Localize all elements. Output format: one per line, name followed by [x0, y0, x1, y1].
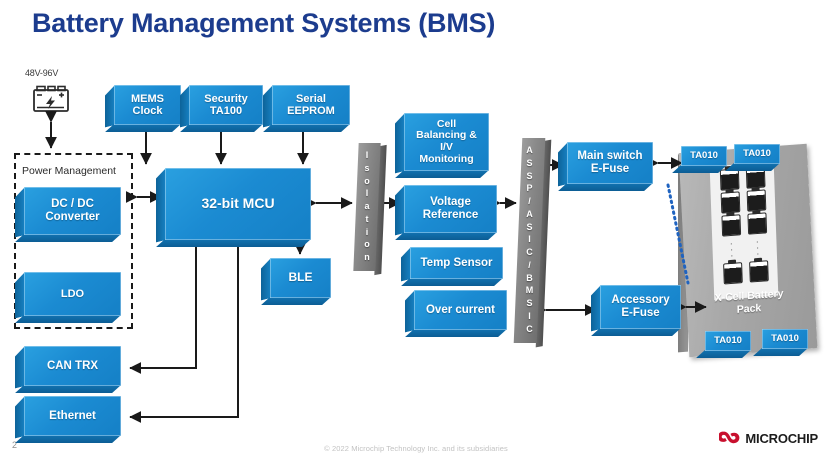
block-ble[interactable]: BLE: [270, 258, 331, 298]
block-label: Cell Balancing & I/V Monitoring: [413, 119, 480, 166]
block-edge-bottom: [15, 435, 121, 443]
block-over-current[interactable]: Over current: [414, 290, 507, 330]
vertical-letter: /: [518, 259, 541, 272]
label-line: Clock: [131, 105, 164, 117]
vertical-letter: t: [356, 213, 378, 226]
block-edge-bottom: [395, 232, 497, 240]
block-edge-bottom: [405, 329, 507, 337]
block-label: MEMS Clock: [128, 93, 167, 118]
vertical-letter: o: [356, 238, 378, 251]
vertical-letter: C: [518, 323, 541, 336]
vertical-letter: i: [356, 226, 378, 239]
vertical-letter: P: [518, 182, 541, 195]
block-label: Main switch E-Fuse: [574, 150, 645, 176]
block-label: Temp Sensor: [418, 257, 496, 270]
block-label: Security TA100: [201, 93, 250, 118]
vertical-letter: C: [518, 246, 541, 259]
block-label: LDO: [58, 288, 87, 300]
block-edge-bottom: [261, 297, 331, 305]
vertical-letter: I: [518, 310, 541, 323]
block-serial-eeprom[interactable]: Serial EEPROM: [272, 85, 350, 125]
block-ldo[interactable]: LDO: [24, 272, 121, 316]
label-line: MEMS: [131, 93, 164, 105]
block-label: BLE: [286, 271, 316, 284]
vertical-letter: S: [518, 221, 541, 234]
block-edge-bottom: [591, 328, 681, 336]
block-edge-bottom: [672, 165, 727, 173]
block-label: DC / DC Converter: [42, 198, 102, 224]
vertical-letter: S: [518, 297, 541, 310]
block-label: CAN TRX: [44, 360, 101, 373]
tag-ta010-bottom-right[interactable]: TA010: [762, 329, 808, 349]
vertical-letter: S: [518, 170, 541, 183]
block-32-bit-mcu[interactable]: 32-bit MCU: [165, 168, 311, 240]
slide-canvas: Battery Management Systems (BMS) 48V-96V…: [0, 0, 832, 465]
block-isolation[interactable]: Isolation: [356, 143, 378, 271]
vertical-letter: I: [356, 149, 378, 162]
label-line: TA100: [204, 105, 247, 117]
block-voltage-reference[interactable]: Voltage Reference: [404, 185, 497, 233]
block-can-trx[interactable]: CAN TRX: [24, 346, 121, 386]
isolation-label-vertical: Isolation: [356, 143, 378, 264]
vertical-letter: n: [356, 251, 378, 264]
tag-ta010-top-right[interactable]: TA010: [734, 144, 780, 164]
block-assp-asic-bmsic[interactable]: ASSP/ASIC/BMSIC: [518, 138, 541, 343]
block-edge-bottom: [401, 278, 503, 286]
label-line: Accessory: [611, 294, 669, 307]
block-label: Voltage Reference: [420, 196, 482, 222]
microchip-logo: MICROCHIP: [719, 428, 818, 449]
block-accessory-efuse[interactable]: Accessory E-Fuse: [600, 285, 681, 329]
vertical-letter: B: [518, 272, 541, 285]
brand-name: MICROCHIP: [745, 431, 818, 446]
label-line: DC / DC: [45, 198, 99, 211]
label-line: Reference: [423, 209, 479, 222]
vertical-letter: o: [356, 175, 378, 188]
label-line: E-Fuse: [611, 307, 669, 320]
block-mems-clock[interactable]: MEMS Clock: [114, 85, 181, 125]
label-line: Serial: [287, 93, 335, 105]
block-ethernet[interactable]: Ethernet: [24, 396, 121, 436]
label-line: Security: [204, 93, 247, 105]
tag-label: TA010: [711, 336, 745, 347]
block-edge-bottom: [558, 183, 653, 191]
assp-label-vertical: ASSP/ASIC/BMSIC: [518, 138, 541, 335]
block-label: Over current: [423, 304, 498, 317]
label-line: E-Fuse: [577, 163, 642, 176]
label-line: Main switch: [577, 150, 642, 163]
block-cell-balancing-monitoring[interactable]: Cell Balancing & I/V Monitoring: [404, 113, 489, 171]
vertical-letter: A: [518, 208, 541, 221]
tag-label: TA010: [768, 334, 802, 345]
tag-ta010-bottom-left[interactable]: TA010: [705, 331, 751, 351]
tag-label: TA010: [740, 149, 774, 160]
vertical-letter: M: [518, 284, 541, 297]
vertical-letter: /: [518, 195, 541, 208]
label-line: Converter: [45, 211, 99, 224]
tag-label: TA010: [687, 151, 721, 162]
block-edge-bottom: [15, 315, 121, 323]
label-line: Voltage: [423, 196, 479, 209]
block-security-ta100[interactable]: Security TA100: [189, 85, 263, 125]
block-edge-bottom: [156, 239, 311, 247]
block-edge-bottom: [15, 385, 121, 393]
vertical-letter: S: [518, 157, 541, 170]
block-dc-dc-converter[interactable]: DC / DC Converter: [24, 187, 121, 235]
block-edge-bottom: [696, 350, 751, 358]
microchip-mark-icon: [719, 428, 741, 449]
vertical-letter: A: [518, 144, 541, 157]
vertical-letter: a: [356, 200, 378, 213]
label-line: EEPROM: [287, 105, 335, 117]
vertical-letter: I: [518, 233, 541, 246]
block-edge-bottom: [15, 234, 121, 242]
block-label: Serial EEPROM: [284, 93, 338, 118]
block-edge-bottom: [105, 124, 181, 132]
vertical-letter: s: [356, 162, 378, 175]
block-edge-bottom: [395, 170, 489, 178]
block-label: Ethernet: [46, 410, 99, 423]
block-label: Accessory E-Fuse: [608, 294, 672, 320]
block-label: 32-bit MCU: [198, 196, 277, 212]
block-temp-sensor[interactable]: Temp Sensor: [410, 247, 503, 279]
block-edge-bottom: [753, 348, 808, 356]
label-line: I/V: [416, 142, 477, 154]
label-line: Monitoring: [416, 154, 477, 166]
block-main-switch-efuse[interactable]: Main switch E-Fuse: [567, 142, 653, 184]
block-edge-bottom: [263, 124, 350, 132]
block-edge-bottom: [725, 163, 780, 171]
block-edge-bottom: [180, 124, 263, 132]
tag-ta010-top-left[interactable]: TA010: [681, 146, 727, 166]
vertical-letter: l: [356, 187, 378, 200]
